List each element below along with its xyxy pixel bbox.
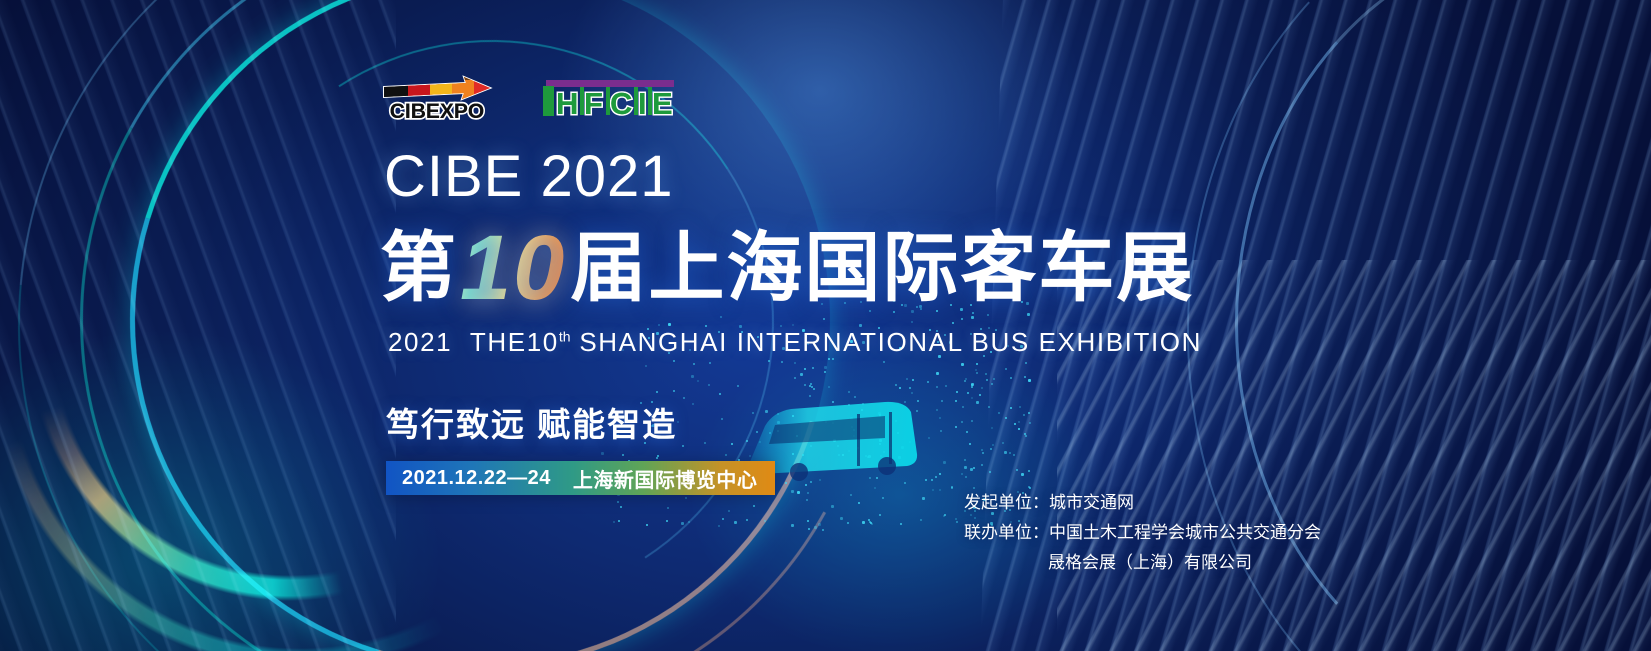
- subtitle-edition: THE10: [470, 327, 559, 357]
- event-date: 2021.12.22—24: [402, 467, 551, 490]
- svg-text:H: H: [556, 86, 578, 121]
- subtitle-year: 2021: [388, 327, 452, 357]
- hfcie-logo[interactable]: H F C I E H F C I E: [540, 77, 680, 123]
- event-venue: 上海新国际博览中心: [573, 464, 758, 493]
- svg-text:C: C: [610, 86, 632, 121]
- slogan: 笃行致远 赋能智造: [386, 398, 677, 446]
- logo-group: CIBEXPO CIBEXPO CIBEXPO H F C I E: [378, 74, 680, 126]
- main-title: CIBE 2021: [384, 148, 674, 206]
- cibexpo-logo-icon: CIBEXPO CIBEXPO: [378, 74, 496, 126]
- hfcie-logo-icon: H F C I E H F C I E: [540, 77, 680, 123]
- headline-prefix: 第: [380, 231, 458, 307]
- headline-edition-number: 10: [460, 226, 566, 311]
- svg-text:CIBEXPO: CIBEXPO: [390, 100, 485, 123]
- organizer-coorganizer: 联办单位：中国土木工程学会城市公共交通分会: [964, 518, 1321, 548]
- svg-text:I: I: [638, 86, 647, 121]
- subtitle-ordinal: th: [559, 328, 571, 344]
- svg-text:E: E: [652, 86, 673, 121]
- svg-text:F: F: [584, 86, 603, 121]
- subtitle: 2021 THE10th SHANGHAI INTERNATIONAL BUS …: [388, 327, 1202, 358]
- headline: 第 10 届上海国际客车展: [380, 222, 1194, 307]
- event-banner: CIBEXPO CIBEXPO CIBEXPO H F C I E: [0, 0, 1651, 651]
- headline-suffix: 届上海国际客车展: [570, 231, 1194, 307]
- organizer-initiator: 发起单位：城市交通网: [964, 488, 1321, 518]
- organizers: 发起单位：城市交通网 联办单位：中国土木工程学会城市公共交通分会 晟格会展（上海…: [964, 488, 1321, 578]
- date-venue-bar: 2021.12.22—24 上海新国际博览中心: [386, 461, 775, 495]
- subtitle-event-name: SHANGHAI INTERNATIONAL BUS EXHIBITION: [579, 327, 1202, 357]
- cibexpo-logo[interactable]: CIBEXPO CIBEXPO CIBEXPO: [378, 74, 496, 126]
- organizer-company: 晟格会展（上海）有限公司: [964, 548, 1321, 578]
